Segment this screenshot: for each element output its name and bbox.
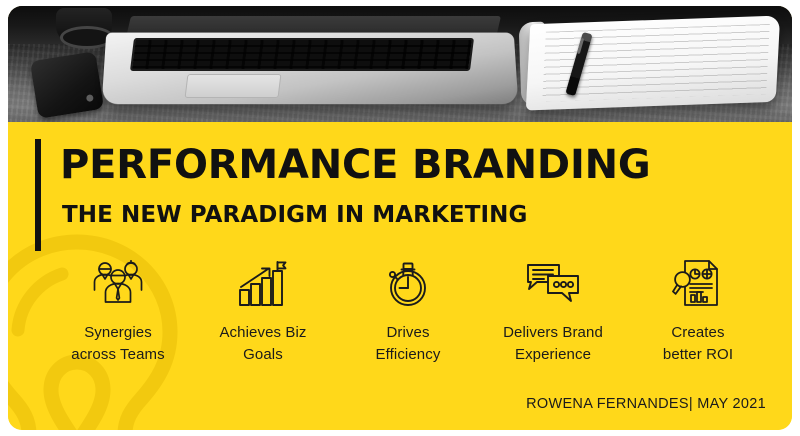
feature-item: Achieves Biz Goals xyxy=(193,258,333,366)
title-block: PERFORMANCE BRANDING THE NEW PARADIGM IN… xyxy=(60,139,651,231)
feature-label: Creates better ROI xyxy=(663,322,733,366)
author-credit: ROWENA FERNANDES| MAY 2021 xyxy=(526,396,766,412)
page-title: PERFORMANCE BRANDING xyxy=(60,139,651,191)
smartphone xyxy=(30,51,104,119)
feature-label: Achieves Biz Goals xyxy=(219,322,306,366)
feature-item: Drives Efficiency xyxy=(338,258,478,366)
laptop-keyboard xyxy=(130,38,474,71)
feature-row: Synergies across Teams Ach xyxy=(48,258,768,366)
feature-item: Creates better ROI xyxy=(628,258,768,366)
laptop-trackpad xyxy=(185,74,282,98)
notepad xyxy=(526,16,780,111)
slide-body: PERFORMANCE BRANDING THE NEW PARADIGM IN… xyxy=(8,122,792,430)
page-subtitle: THE NEW PARADIGM IN MARKETING xyxy=(62,199,651,231)
stopwatch-icon xyxy=(380,258,436,310)
desk-photo xyxy=(8,6,792,122)
feature-item: Delivers Brand Experience xyxy=(483,258,623,366)
three-people-icon xyxy=(90,258,146,310)
feature-label: Delivers Brand Experience xyxy=(503,322,603,366)
feature-item: Synergies across Teams xyxy=(48,258,188,366)
feature-label: Drives Efficiency xyxy=(376,322,441,366)
report-magnifier-icon xyxy=(670,258,726,310)
feature-label: Synergies across Teams xyxy=(71,322,164,366)
speech-bubbles-icon xyxy=(525,258,581,310)
title-accent-bar xyxy=(35,139,41,251)
bar-chart-growth-flag-icon xyxy=(235,258,291,310)
presentation-slide: PERFORMANCE BRANDING THE NEW PARADIGM IN… xyxy=(8,6,792,430)
